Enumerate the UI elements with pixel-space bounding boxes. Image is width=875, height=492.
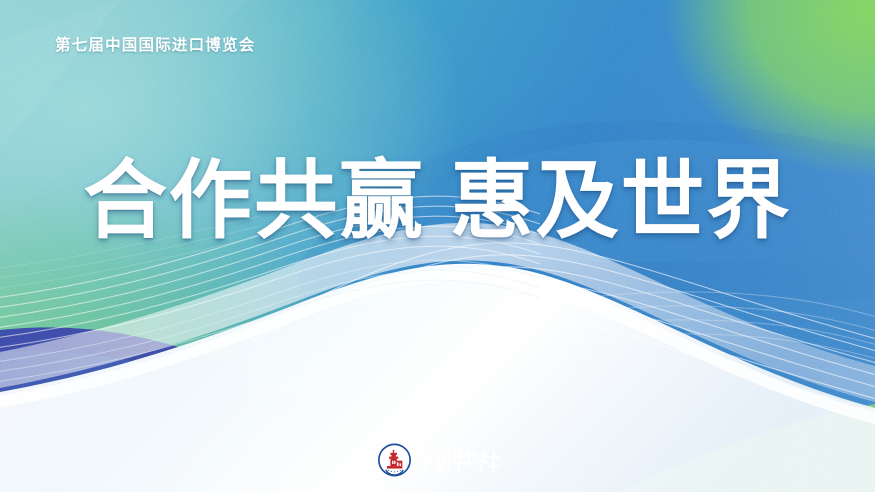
xinhua-emblem-icon — [377, 443, 411, 477]
headline-left: 合作共赢 — [83, 153, 424, 249]
event-name-header: 第七届中国国际进口博览会 — [55, 36, 255, 56]
xinhua-logo — [377, 442, 498, 478]
headline-right: 惠及世界 — [450, 153, 791, 249]
poster-canvas: 第七届中国国际进口博览会 合作共赢惠及世界 — [0, 0, 875, 492]
page-title: 合作共赢惠及世界 — [13, 158, 862, 244]
xinhua-wordmark — [420, 446, 498, 474]
